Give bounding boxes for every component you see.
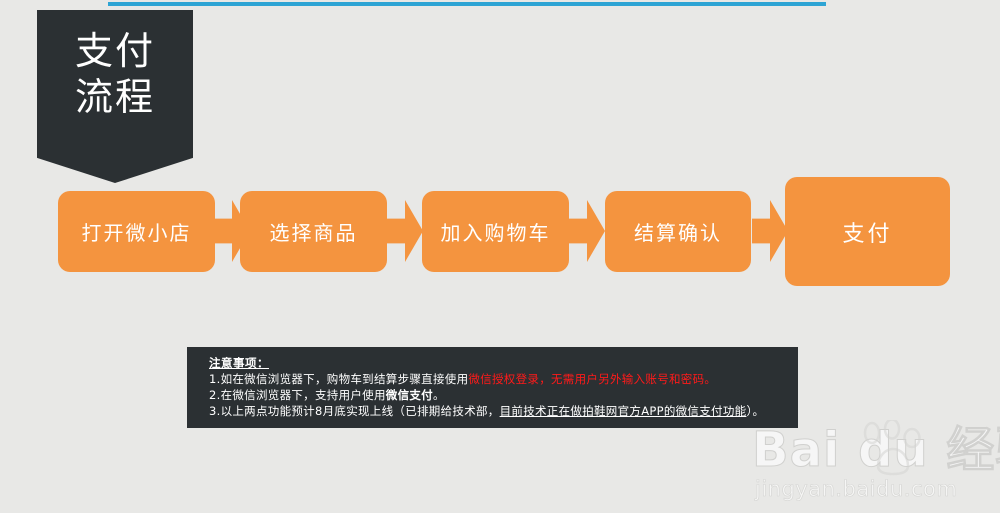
notes-title: 注意事项：: [209, 356, 798, 371]
notes-line-3: 3.以上两点功能预计8月底实现上线（已排期给技术部，目前技术正在做拍鞋网官方AP…: [209, 403, 798, 419]
flow-arrow-3: [569, 200, 605, 262]
notes-line-index: 2.: [209, 388, 221, 402]
flow-step-1-label: 打开微小店: [82, 217, 192, 246]
notes-text-segment: 。: [433, 388, 445, 402]
notes-line-index: 1.: [209, 372, 221, 386]
flow-step-1[interactable]: 打开微小店: [58, 191, 215, 272]
flow-step-2[interactable]: 选择商品: [240, 191, 387, 272]
flow-step-5[interactable]: 支付: [785, 177, 950, 286]
notes-list: 1.如在微信浏览器下，购物车到结算步骤直接使用微信授权登录，无需用户另外输入账号…: [209, 371, 798, 419]
notes-text-segment: 以上两点功能预计8月底实现上线（已排期给技术部，: [221, 404, 500, 418]
notes-line-2: 2.在微信浏览器下，支持用户使用微信支付。: [209, 387, 798, 403]
notes-text-segment: 在微信浏览器下，支持用户使用: [221, 388, 386, 402]
flow-arrow-4: [752, 200, 788, 262]
flow-arrow-2: [387, 200, 423, 262]
flow-step-3[interactable]: 加入购物车: [422, 191, 569, 272]
flow-step-4[interactable]: 结算确认: [605, 191, 751, 272]
flow-step-3-label: 加入购物车: [441, 217, 551, 246]
notes-text-segment: 目前技术正在做拍鞋网官方APP的微信支付功能: [500, 404, 747, 418]
notes-panel: 注意事项： 1.如在微信浏览器下，购物车到结算步骤直接使用微信授权登录，无需用户…: [187, 347, 798, 428]
flow-step-5-label: 支付: [842, 216, 892, 248]
notes-text-segment: 如在微信浏览器下，购物车到结算步骤直接使用: [221, 372, 469, 386]
notes-line-1: 1.如在微信浏览器下，购物车到结算步骤直接使用微信授权登录，无需用户另外输入账号…: [209, 371, 798, 387]
notes-text-segment: 微信支付: [386, 388, 433, 402]
slide-canvas: 支付 流程 打开微小店 选择商品 加入购物车 结算确认 支付 注意事项： 1.如…: [0, 0, 1000, 513]
flow-step-4-label: 结算确认: [634, 217, 722, 246]
notes-line-index: 3.: [209, 404, 221, 418]
notes-text-segment: ）。: [746, 404, 764, 418]
process-flow: 打开微小店 选择商品 加入购物车 结算确认 支付: [0, 0, 1000, 513]
notes-text-segment: 微信授权登录，无需用户另外输入账号和密码。: [468, 372, 716, 386]
flow-step-2-label: 选择商品: [270, 217, 358, 246]
